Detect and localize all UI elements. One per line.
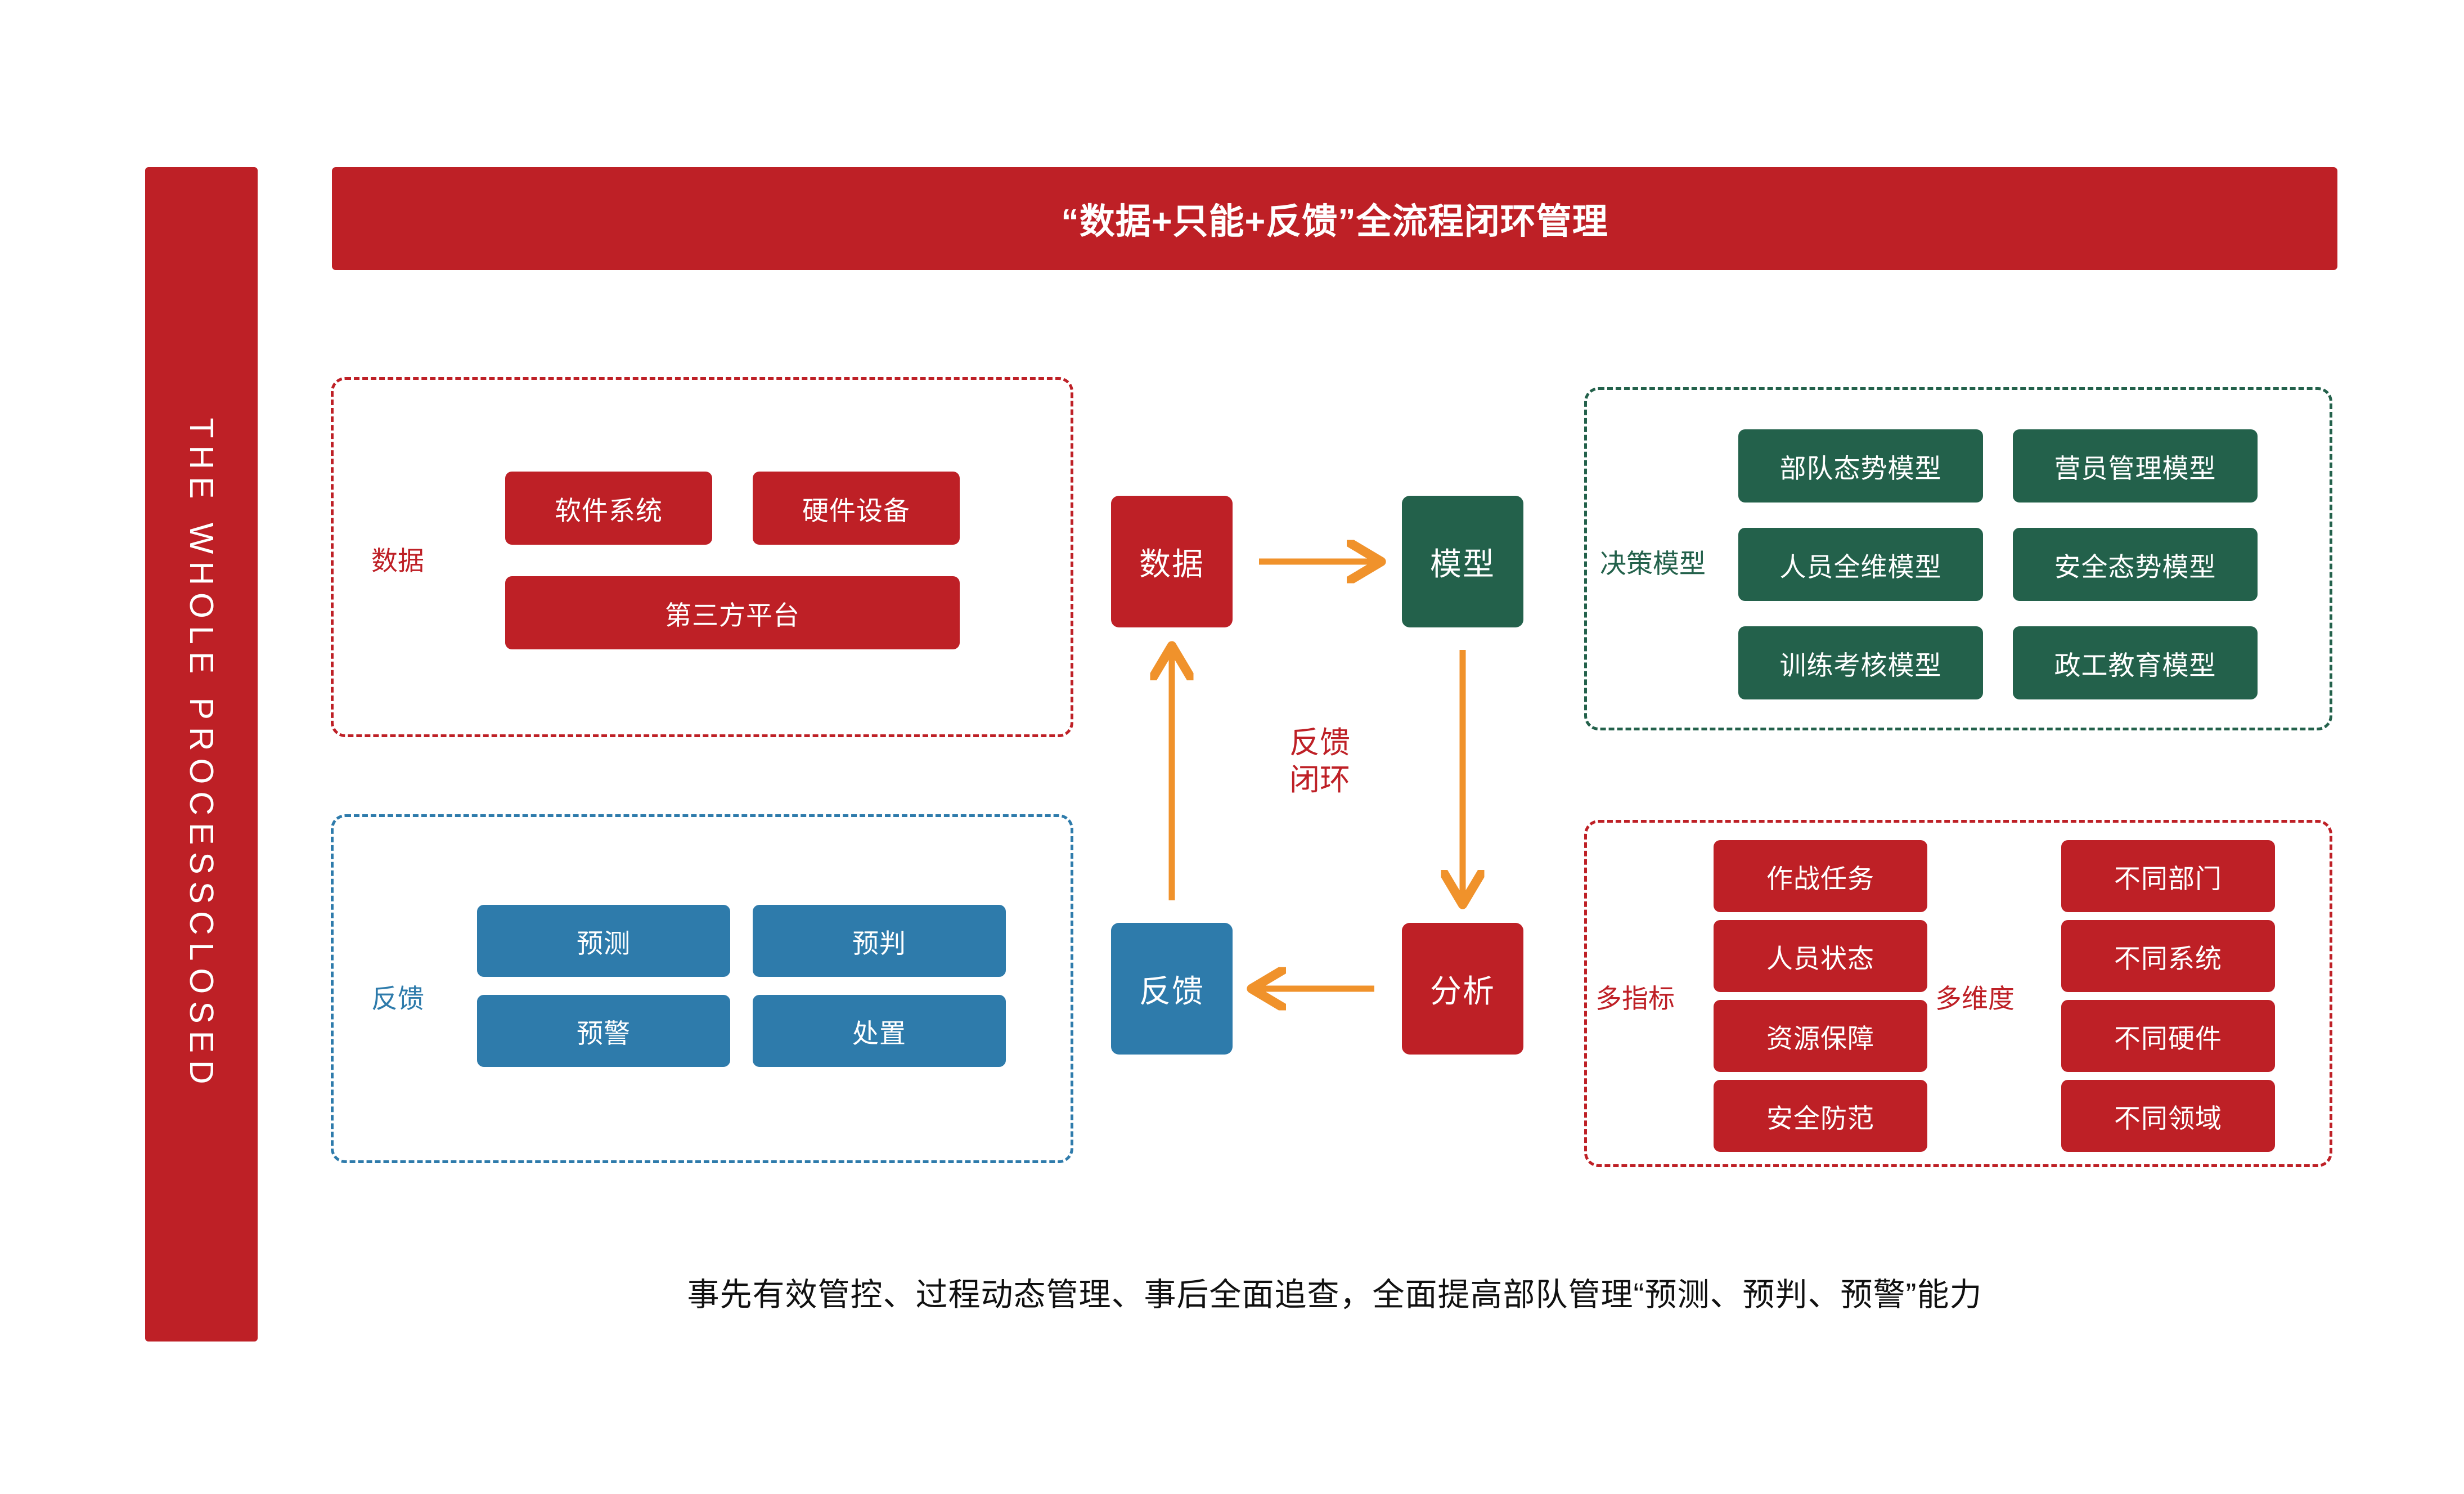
chip-software-system[interactable]: 软件系统 bbox=[505, 472, 712, 545]
cycle-node-data[interactable]: 数据 bbox=[1111, 496, 1233, 627]
chip-prejudge[interactable]: 预判 bbox=[753, 905, 1006, 977]
side-bar: THE WHOLE PROCESSCLOSED bbox=[145, 167, 258, 1342]
group-dimensions-label: 多维度 bbox=[1935, 977, 2015, 1016]
chip-camper-management-model[interactable]: 营员管理模型 bbox=[2013, 429, 2258, 503]
chip-hardware-device[interactable]: 硬件设备 bbox=[753, 472, 960, 545]
chip-training-assessment-model[interactable]: 训练考核模型 bbox=[1738, 626, 1983, 699]
chip-personnel-status[interactable]: 人员状态 bbox=[1714, 920, 1927, 992]
chip-different-fields[interactable]: 不同领域 bbox=[2061, 1080, 2275, 1152]
title-bar: “数据+只能+反馈”全流程闭环管理 bbox=[332, 167, 2337, 270]
group-feedback bbox=[331, 814, 1073, 1163]
group-feedback-label: 反馈 bbox=[371, 977, 424, 1016]
cycle-node-model[interactable]: 模型 bbox=[1402, 496, 1523, 627]
cycle-center-label-line1: 反馈 bbox=[1258, 725, 1382, 762]
chip-disposal[interactable]: 处置 bbox=[753, 995, 1006, 1067]
chip-third-party-platform[interactable]: 第三方平台 bbox=[505, 576, 960, 649]
chip-different-departments[interactable]: 不同部门 bbox=[2061, 840, 2275, 912]
page-title: “数据+只能+反馈”全流程闭环管理 bbox=[1061, 193, 1608, 244]
cycle-node-analysis[interactable]: 分析 bbox=[1402, 923, 1523, 1055]
chip-combat-mission[interactable]: 作战任务 bbox=[1714, 840, 1927, 912]
chip-safety-prevention[interactable]: 安全防范 bbox=[1714, 1080, 1927, 1152]
group-indicators-label: 多指标 bbox=[1595, 977, 1675, 1016]
chip-resource-support[interactable]: 资源保障 bbox=[1714, 1000, 1927, 1072]
group-data bbox=[331, 377, 1073, 737]
chip-forecast[interactable]: 预测 bbox=[477, 905, 730, 977]
side-bar-label: THE WHOLE PROCESSCLOSED bbox=[182, 418, 221, 1091]
chip-different-systems[interactable]: 不同系统 bbox=[2061, 920, 2275, 992]
chip-political-education-model[interactable]: 政工教育模型 bbox=[2013, 626, 2258, 699]
cycle-center-label: 反馈 闭环 bbox=[1258, 725, 1382, 799]
chip-personnel-full-dimension-model[interactable]: 人员全维模型 bbox=[1738, 528, 1983, 601]
chip-different-hardware[interactable]: 不同硬件 bbox=[2061, 1000, 2275, 1072]
chip-troop-situation-model[interactable]: 部队态势模型 bbox=[1738, 429, 1983, 503]
cycle-node-feedback[interactable]: 反馈 bbox=[1111, 923, 1233, 1055]
group-decision-model-label: 决策模型 bbox=[1600, 542, 1706, 581]
chip-security-situation-model[interactable]: 安全态势模型 bbox=[2013, 528, 2258, 601]
chip-early-warning[interactable]: 预警 bbox=[477, 995, 730, 1067]
bottom-caption: 事先有效管控、过程动态管理、事后全面追查，全面提高部队管理“预测、预判、预警”能… bbox=[332, 1269, 2337, 1315]
cycle-center-label-line2: 闭环 bbox=[1258, 762, 1382, 799]
group-data-label: 数据 bbox=[371, 539, 424, 578]
